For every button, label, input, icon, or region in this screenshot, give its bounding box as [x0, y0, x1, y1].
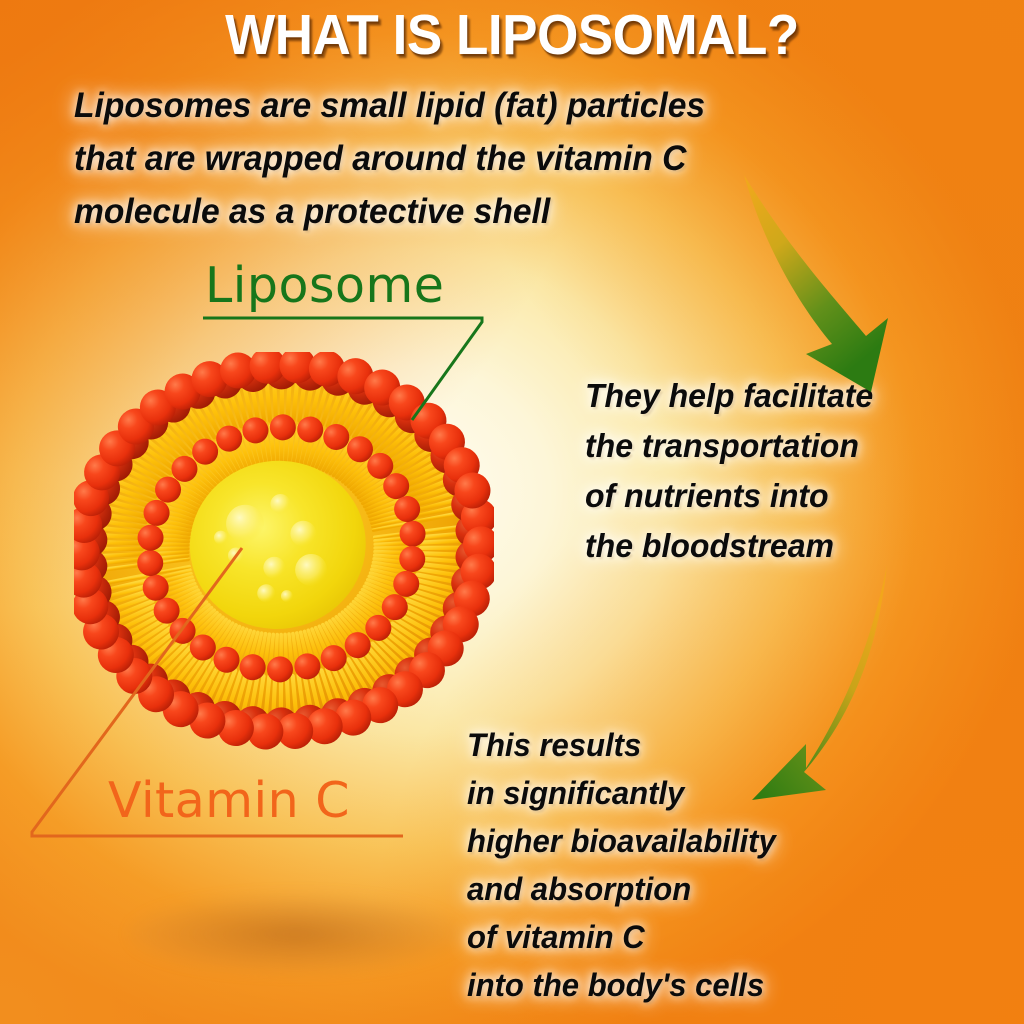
transport-line-1: They help facilitate [585, 371, 873, 421]
intro-line-1: Liposomes are small lipid (fat) particle… [74, 79, 705, 132]
bioavailability-paragraph: This results in significantly higher bio… [467, 721, 776, 1009]
infographic-canvas: WHAT IS LIPOSOMAL? Liposomes are small l… [0, 0, 1024, 1024]
bioavailability-line-2: in significantly [467, 769, 776, 817]
transport-line-4: the bloodstream [585, 521, 873, 571]
intro-line-2: that are wrapped around the vitamin C [74, 132, 705, 185]
transport-paragraph: They help facilitate the transportation … [585, 371, 873, 571]
intro-paragraph: Liposomes are small lipid (fat) particle… [74, 79, 705, 238]
bioavailability-line-1: This results [467, 721, 776, 769]
transport-line-2: the transportation [585, 421, 873, 471]
liposome-callout-label: Liposome [205, 257, 444, 314]
intro-line-3: molecule as a protective shell [74, 185, 705, 238]
vitaminc-callout-label: Vitamin C [108, 772, 350, 829]
bioavailability-line-6: into the body's cells [467, 961, 776, 1009]
bioavailability-line-4: and absorption [467, 865, 776, 913]
page-title: WHAT IS LIPOSOMAL? [36, 2, 988, 68]
liposome-leader-line [203, 318, 482, 420]
transport-line-3: of nutrients into [585, 471, 873, 521]
bioavailability-line-5: of vitamin C [467, 913, 776, 961]
bioavailability-line-3: higher bioavailability [467, 817, 776, 865]
